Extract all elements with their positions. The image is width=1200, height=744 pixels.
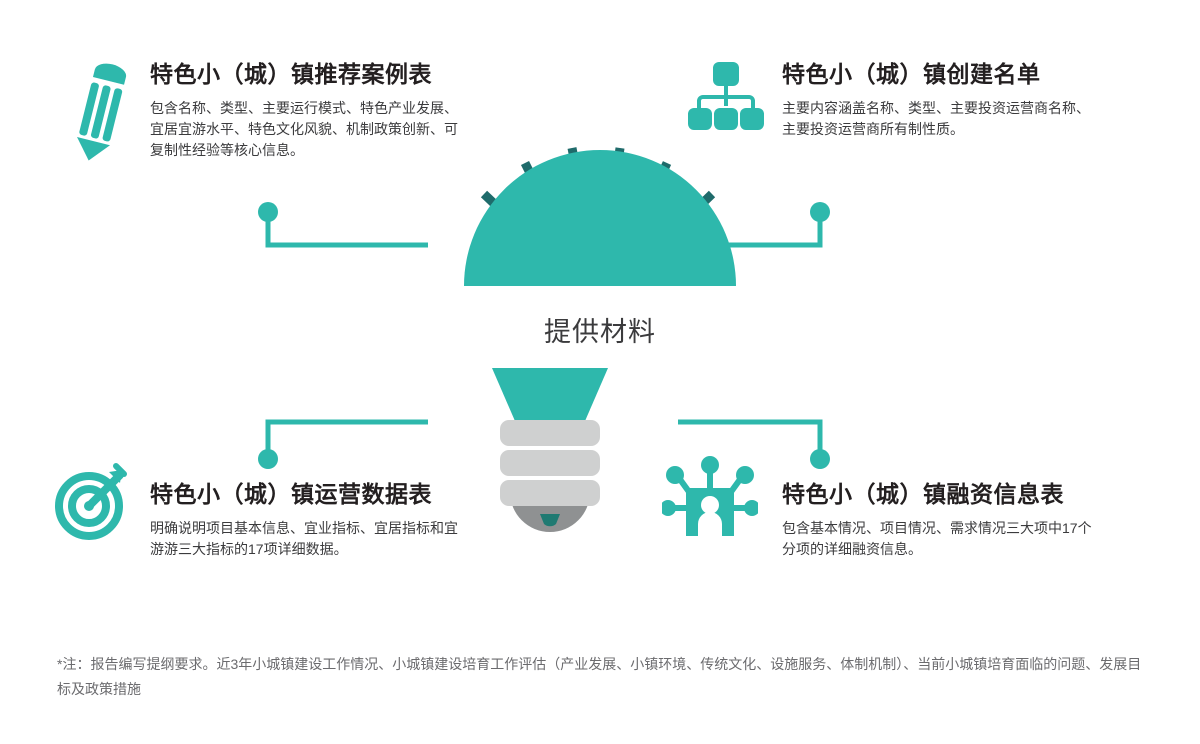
network-person-icon [662,456,758,546]
quadrant-title: 特色小（城）镇创建名单 [782,60,1102,89]
quadrant-title: 特色小（城）镇融资信息表 [782,480,1102,509]
connector-top-left [250,195,430,255]
org-chart-icon [686,62,764,132]
pencil-icon [64,58,138,164]
infographic-canvas: 提供材料 [0,0,1200,744]
lightbulb-icon [424,128,776,288]
center-label: 提供材料 [0,310,1200,349]
lightbulb-base-icon [470,368,630,538]
quadrant-title: 特色小（城）镇运营数据表 [150,480,470,509]
quadrant-description: 包含基本情况、项目情况、需求情况三大项中17个分项的详细融资信息。 [782,518,1102,560]
quadrant-description: 主要内容涵盖名称、类型、主要投资运营商名称、主要投资运营商所有制性质。 [782,98,1102,140]
quadrant-financing-info: 特色小（城）镇融资信息表 包含基本情况、项目情况、需求情况三大项中17个分项的详… [782,480,1102,560]
quadrant-recommended-cases: 特色小（城）镇推荐案例表 包含名称、类型、主要运行模式、特色产业发展、宜居宜游水… [150,60,460,161]
quadrant-description: 明确说明项目基本信息、宜业指标、宜居指标和宜游游三大指标的17项详细数据。 [150,518,470,560]
quadrant-operation-data: 特色小（城）镇运营数据表 明确说明项目基本信息、宜业指标、宜居指标和宜游游三大指… [150,480,470,560]
footnote-text: *注：报告编写提纲要求。近3年小城镇建设工作情况、小城镇建设培育工作评估（产业发… [57,652,1147,702]
quadrant-description: 包含名称、类型、主要运行模式、特色产业发展、宜居宜游水平、特色文化风貌、机制政策… [150,98,460,161]
target-icon [52,462,132,542]
quadrant-creation-list: 特色小（城）镇创建名单 主要内容涵盖名称、类型、主要投资运营商名称、主要投资运营… [782,60,1102,140]
connector-bottom-left [250,415,430,477]
quadrant-title: 特色小（城）镇推荐案例表 [150,60,460,89]
